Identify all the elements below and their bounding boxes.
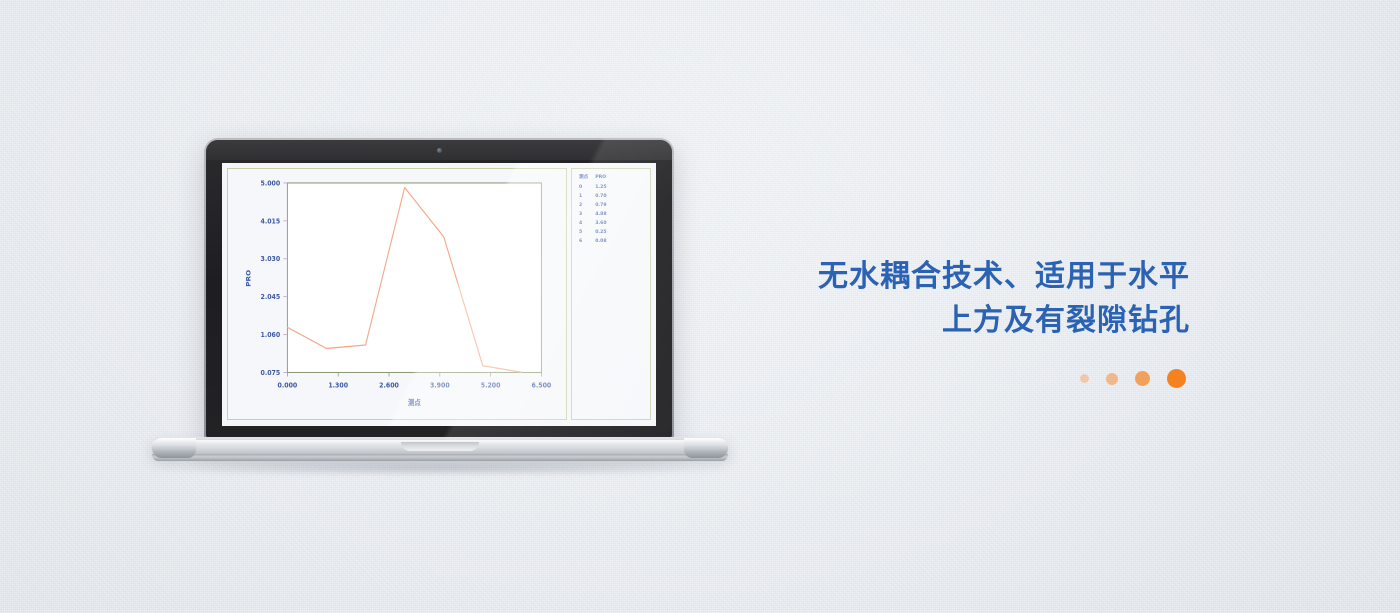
table-header-pro: PRO [595, 174, 613, 184]
readings-table-container: 测点 PRO 01.2510.7020.7934.8843.6050.2560.… [572, 169, 650, 247]
laptop-base [152, 437, 728, 463]
analysis-app-window: 0.0751.0602.0453.0304.0155.000 0.0001.30… [222, 163, 656, 426]
table-cell-point: 6 [579, 238, 595, 247]
table-header-row: 测点 PRO [579, 174, 614, 184]
plot-area [287, 183, 541, 373]
chart-svg: 0.0751.0602.0453.0304.0155.000 0.0001.30… [228, 169, 566, 419]
readings-table: 测点 PRO 01.2510.7020.7934.8843.6050.2560.… [579, 174, 614, 247]
banner-copy: 无水耦合技术、适用于水平 上方及有裂隙钻孔 [790, 255, 1190, 388]
x-tick-label: 1.300 [328, 381, 348, 389]
carousel-dot-2[interactable] [1106, 373, 1118, 385]
table-cell-pro: 1.25 [595, 184, 613, 193]
laptop-lid: 0.0751.0602.0453.0304.0155.000 0.0001.30… [204, 138, 674, 440]
x-tick-label: 2.600 [379, 381, 399, 389]
table-cell-pro: 0.08 [595, 238, 613, 247]
x-axis-ticks: 0.0001.3002.6003.9005.2006.500 [278, 372, 552, 389]
laptop-base-foot-right [684, 438, 728, 458]
table-cell-point: 1 [579, 193, 595, 202]
y-tick-label: 4.015 [261, 217, 281, 225]
x-tick-label: 6.500 [532, 381, 552, 389]
carousel-dot-3[interactable] [1135, 371, 1150, 386]
table-cell-point: 2 [579, 202, 595, 211]
x-tick-label: 3.900 [430, 381, 450, 389]
y-axis-label: PRO [245, 270, 252, 287]
table-cell-pro: 0.70 [595, 193, 613, 202]
table-cell-point: 3 [579, 211, 595, 220]
table-row: 34.88 [579, 211, 614, 220]
table-row: 20.79 [579, 202, 614, 211]
line-chart: 0.0751.0602.0453.0304.0155.000 0.0001.30… [228, 169, 566, 419]
banner-stage: 0.0751.0602.0453.0304.0155.000 0.0001.30… [0, 0, 1400, 613]
data-table-panel: 测点 PRO 01.2510.7020.7934.8843.6050.2560.… [571, 168, 651, 420]
x-axis-label: 测点 [408, 398, 421, 408]
table-cell-pro: 4.88 [595, 211, 613, 220]
camera-dot-icon [437, 148, 442, 153]
y-tick-label: 2.045 [261, 293, 281, 301]
table-row: 10.70 [579, 193, 614, 202]
laptop-base-foot-left [152, 438, 196, 458]
table-cell-pro: 0.79 [595, 202, 613, 211]
carousel-dot-1[interactable] [1080, 374, 1089, 383]
laptop-bezel: 0.0751.0602.0453.0304.0155.000 0.0001.30… [206, 140, 672, 438]
table-cell-point: 5 [579, 229, 595, 238]
headline: 无水耦合技术、适用于水平 上方及有裂隙钻孔 [790, 255, 1190, 342]
x-tick-label: 0.000 [278, 381, 298, 389]
y-tick-label: 5.000 [261, 179, 281, 187]
laptop-mockup: 0.0751.0602.0453.0304.0155.000 0.0001.30… [152, 138, 728, 473]
table-cell-pro: 3.60 [595, 220, 613, 229]
table-cell-pro: 0.25 [595, 229, 613, 238]
table-row: 50.25 [579, 229, 614, 238]
table-body: 01.2510.7020.7934.8843.6050.2560.08 [579, 184, 614, 247]
y-tick-label: 1.060 [261, 331, 281, 339]
table-cell-point: 4 [579, 220, 595, 229]
laptop-camera-strip [206, 140, 672, 160]
table-header-point: 测点 [579, 174, 595, 184]
carousel-dot-4[interactable] [1167, 369, 1186, 388]
y-tick-label: 0.075 [261, 369, 281, 377]
laptop-base-notch [401, 442, 479, 451]
table-row: 01.25 [579, 184, 614, 193]
table-row: 60.08 [579, 238, 614, 247]
chart-panel: 0.0751.0602.0453.0304.0155.000 0.0001.30… [227, 168, 567, 420]
y-tick-label: 3.030 [261, 255, 281, 263]
x-tick-label: 5.200 [481, 381, 501, 389]
table-row: 43.60 [579, 220, 614, 229]
laptop-screen: 0.0751.0602.0453.0304.0155.000 0.0001.30… [222, 163, 656, 426]
y-axis-ticks: 0.0751.0602.0453.0304.0155.000 [261, 179, 288, 377]
carousel-dots[interactable] [790, 369, 1190, 388]
table-cell-point: 0 [579, 184, 595, 193]
laptop-base-lip [152, 454, 728, 461]
